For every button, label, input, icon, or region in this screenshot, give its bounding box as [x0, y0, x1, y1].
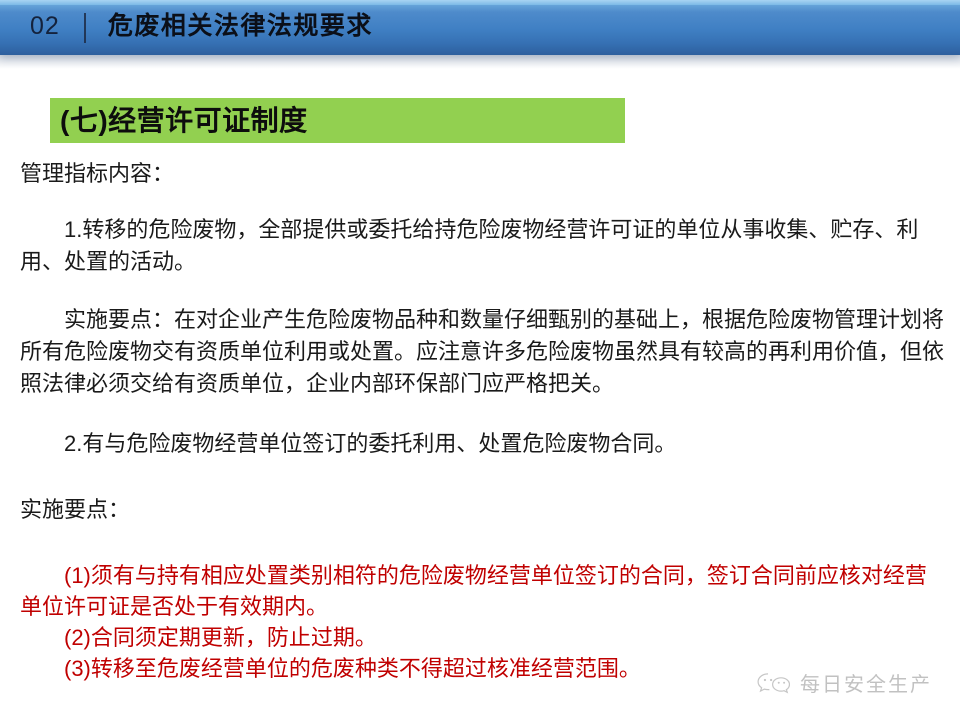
page-title: 危废相关法律法规要求 — [108, 14, 373, 41]
watermark: 每日安全生产 — [756, 672, 932, 698]
slide: 02 危废相关法律法规要求 (七)经营许可证制度 管理指标内容： 1.转移的危险… — [0, 0, 960, 720]
header-divider — [84, 13, 86, 43]
wechat-icon — [756, 672, 790, 698]
body-item-1-key-points: 实施要点：在对企业产生危险废物品种和数量仔细甄别的基础上，根据危险废物管理计划将… — [20, 304, 945, 400]
body-lead-line: 管理指标内容： — [20, 158, 945, 190]
section-heading-box: (七)经营许可证制度 — [50, 98, 625, 143]
slide-body: 管理指标内容： 1.转移的危险废物，全部提供或委托给持危险废物经营许可证的单位从… — [20, 158, 945, 684]
header-gloss — [0, 0, 960, 5]
red-point-2: (2)合同须定期更新，防止过期。 — [20, 622, 945, 653]
section-number: 02 — [30, 14, 60, 41]
body-item-2-key-points-label: 实施要点： — [20, 494, 945, 526]
slide-header-bar: 02 危废相关法律法规要求 — [0, 0, 960, 55]
red-point-1: (1)须有与持有相应处置类别相符的危险废物经营单位签订的合同，签订合同前应核对经… — [20, 560, 945, 622]
body-item-1: 1.转移的危险废物，全部提供或委托给持危险废物经营许可证的单位从事收集、贮存、利… — [20, 214, 945, 278]
watermark-text: 每日安全生产 — [800, 675, 932, 695]
section-heading-text: (七)经营许可证制度 — [60, 107, 308, 135]
body-item-2: 2.有与危险废物经营单位签订的委托利用、处置危险废物合同。 — [20, 428, 945, 460]
header-shadow — [0, 55, 960, 69]
